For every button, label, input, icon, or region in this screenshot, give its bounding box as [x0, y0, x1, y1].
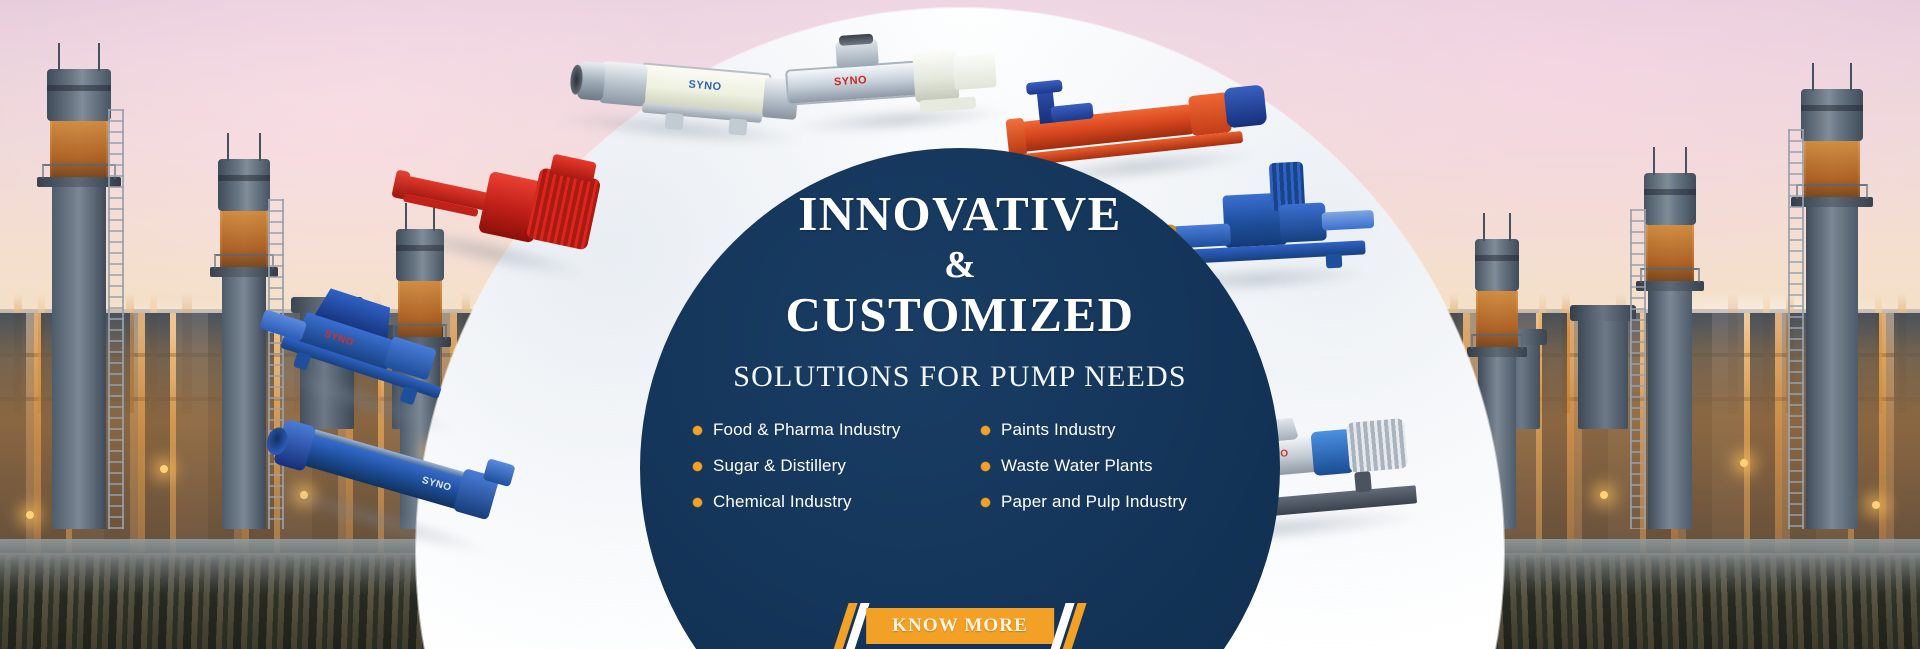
list-item: Chemical Industry [693, 491, 955, 513]
product-white-housing-screw-pump: SYNO [769, 19, 1026, 140]
industry-lists: Food & Pharma Industry Sugar & Distiller… [650, 419, 1270, 513]
right-slash-accent [1058, 603, 1079, 649]
know-more-cta-wrapper: KNOW MORE [841, 603, 1079, 649]
list-item-label: Waste Water Plants [1001, 455, 1153, 477]
know-more-button-label: KNOW MORE [892, 615, 1028, 637]
industry-column-left: Food & Pharma Industry Sugar & Distiller… [693, 419, 955, 513]
list-item-label: Chemical Industry [713, 491, 852, 513]
know-more-button[interactable]: KNOW MORE [866, 608, 1054, 644]
industry-column-right: Paints Industry Waste Water Plants Paper… [981, 419, 1243, 513]
bullet-dot-icon [693, 498, 702, 507]
hero-banner: SYNO SYNO [0, 0, 1920, 649]
list-item: Waste Water Plants [981, 455, 1243, 477]
smokestack [52, 69, 106, 529]
bullet-dot-icon [981, 462, 990, 471]
page-title: INNOVATIVE [650, 186, 1270, 242]
bullet-dot-icon [981, 426, 990, 435]
brand-label-syno: SYNO [834, 74, 868, 88]
list-item-label: Food & Pharma Industry [713, 419, 901, 441]
smokestack [1648, 173, 1692, 529]
hero-content: INNOVATIVE & CUSTOMIZED SOLUTIONS FOR PU… [650, 186, 1270, 513]
list-item-label: Paper and Pulp Industry [1001, 491, 1187, 513]
list-item: Paper and Pulp Industry [981, 491, 1243, 513]
list-item-label: Sugar & Distillery [713, 455, 846, 477]
bullet-dot-icon [693, 462, 702, 471]
bullet-dot-icon [693, 426, 702, 435]
list-item: Food & Pharma Industry [693, 419, 955, 441]
list-item-label: Paints Industry [1001, 419, 1116, 441]
bullet-dot-icon [981, 498, 990, 507]
ampersand: & [650, 244, 1270, 286]
page-title-secondary: CUSTOMIZED [650, 287, 1270, 343]
list-item: Paints Industry [981, 419, 1243, 441]
list-item: Sugar & Distillery [693, 455, 955, 477]
page-subtitle: SOLUTIONS FOR PUMP NEEDS [650, 357, 1270, 397]
smokestack [1806, 89, 1858, 529]
left-slash-accent [841, 603, 862, 649]
